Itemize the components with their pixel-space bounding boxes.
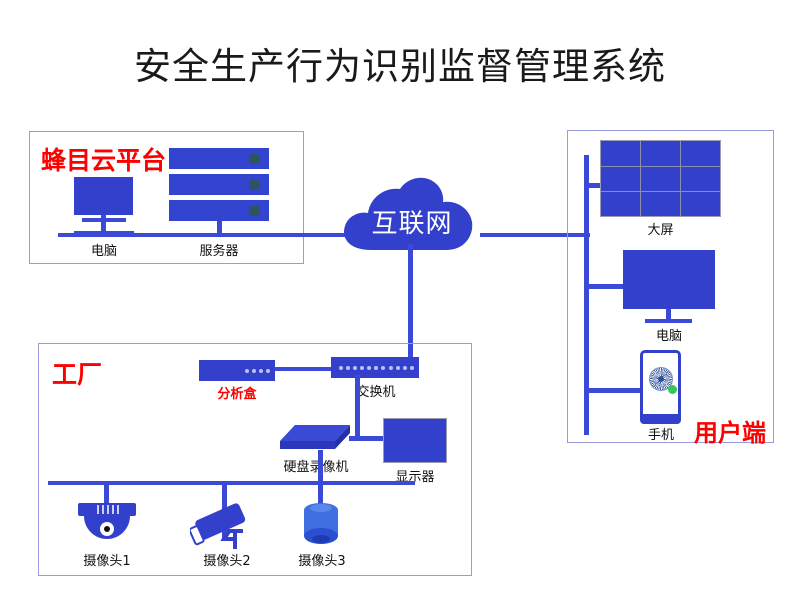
switch-ports-group2 <box>367 357 385 378</box>
bigscreen-caption: 大屏 <box>600 219 721 238</box>
page-title: 安全生产行为识别监督管理系统 <box>0 36 800 90</box>
ptz-camera-icon <box>296 500 346 553</box>
analysis-box-device <box>199 360 275 381</box>
cloud-computer-base <box>82 218 126 222</box>
dome-camera-icon <box>74 503 140 552</box>
camera1-caption: 摄像头1 <box>65 550 149 569</box>
monitor-device <box>383 418 447 463</box>
check-badge-icon <box>668 385 677 394</box>
server-led-icon <box>249 180 260 190</box>
server-unit <box>169 200 269 221</box>
switch-caption: 交换机 <box>336 381 416 400</box>
camera3-caption: 摄像头3 <box>280 550 364 569</box>
link-dvr-to-camera-bus <box>318 450 323 483</box>
server-led-icon <box>249 206 260 216</box>
bigscreen-videowall <box>600 140 721 217</box>
cloud-computer-caption: 电脑 <box>74 240 134 259</box>
factory-label: 工厂 <box>52 355 102 391</box>
camera2-caption: 摄像头2 <box>185 550 269 569</box>
analysis-box-caption: 分析盒 <box>199 383 275 402</box>
server-caption: 服务器 <box>169 240 269 259</box>
client-section-label: 用户端 <box>694 413 766 448</box>
switch-ports-group1 <box>339 357 364 378</box>
client-bus-line <box>584 155 589 435</box>
videowall-gridline <box>680 141 681 216</box>
videowall-gridline <box>640 141 641 216</box>
diagram-canvas: 安全生产行为识别监督管理系统 蜂目云平台 电脑 服务器 互联网 大屏 电脑 手机… <box>0 0 800 600</box>
analysis-box-ports <box>245 360 270 381</box>
link-switch-to-dvr <box>355 375 360 438</box>
phone-caption: 手机 <box>636 424 686 443</box>
dvr-caption: 硬盘录像机 <box>271 456 361 475</box>
link-dvr-to-monitor <box>349 436 383 441</box>
bullet-camera-icon <box>190 503 258 554</box>
server-led-icon <box>249 154 260 164</box>
cloud-platform-bus-line <box>58 233 348 237</box>
videowall-gridline <box>601 191 720 192</box>
cloud-platform-label: 蜂目云平台 <box>41 141 166 177</box>
dvr-device <box>279 424 351 454</box>
client-computer-caption: 电脑 <box>623 325 715 344</box>
server-unit <box>169 148 269 169</box>
server-unit <box>169 174 269 195</box>
branch-to-client-computer <box>584 284 624 289</box>
client-computer-screen <box>623 250 715 309</box>
internet-label: 互联网 <box>337 203 487 240</box>
branch-to-phone <box>584 388 644 393</box>
switch-ports-group3 <box>389 357 414 378</box>
client-computer-base <box>645 319 692 323</box>
network-switch-device <box>331 357 419 378</box>
phone-bottom-bar <box>640 414 681 424</box>
videowall-gridline <box>601 166 720 167</box>
link-analysisbox-to-switch <box>274 367 332 371</box>
cloud-computer-screen <box>74 177 133 215</box>
